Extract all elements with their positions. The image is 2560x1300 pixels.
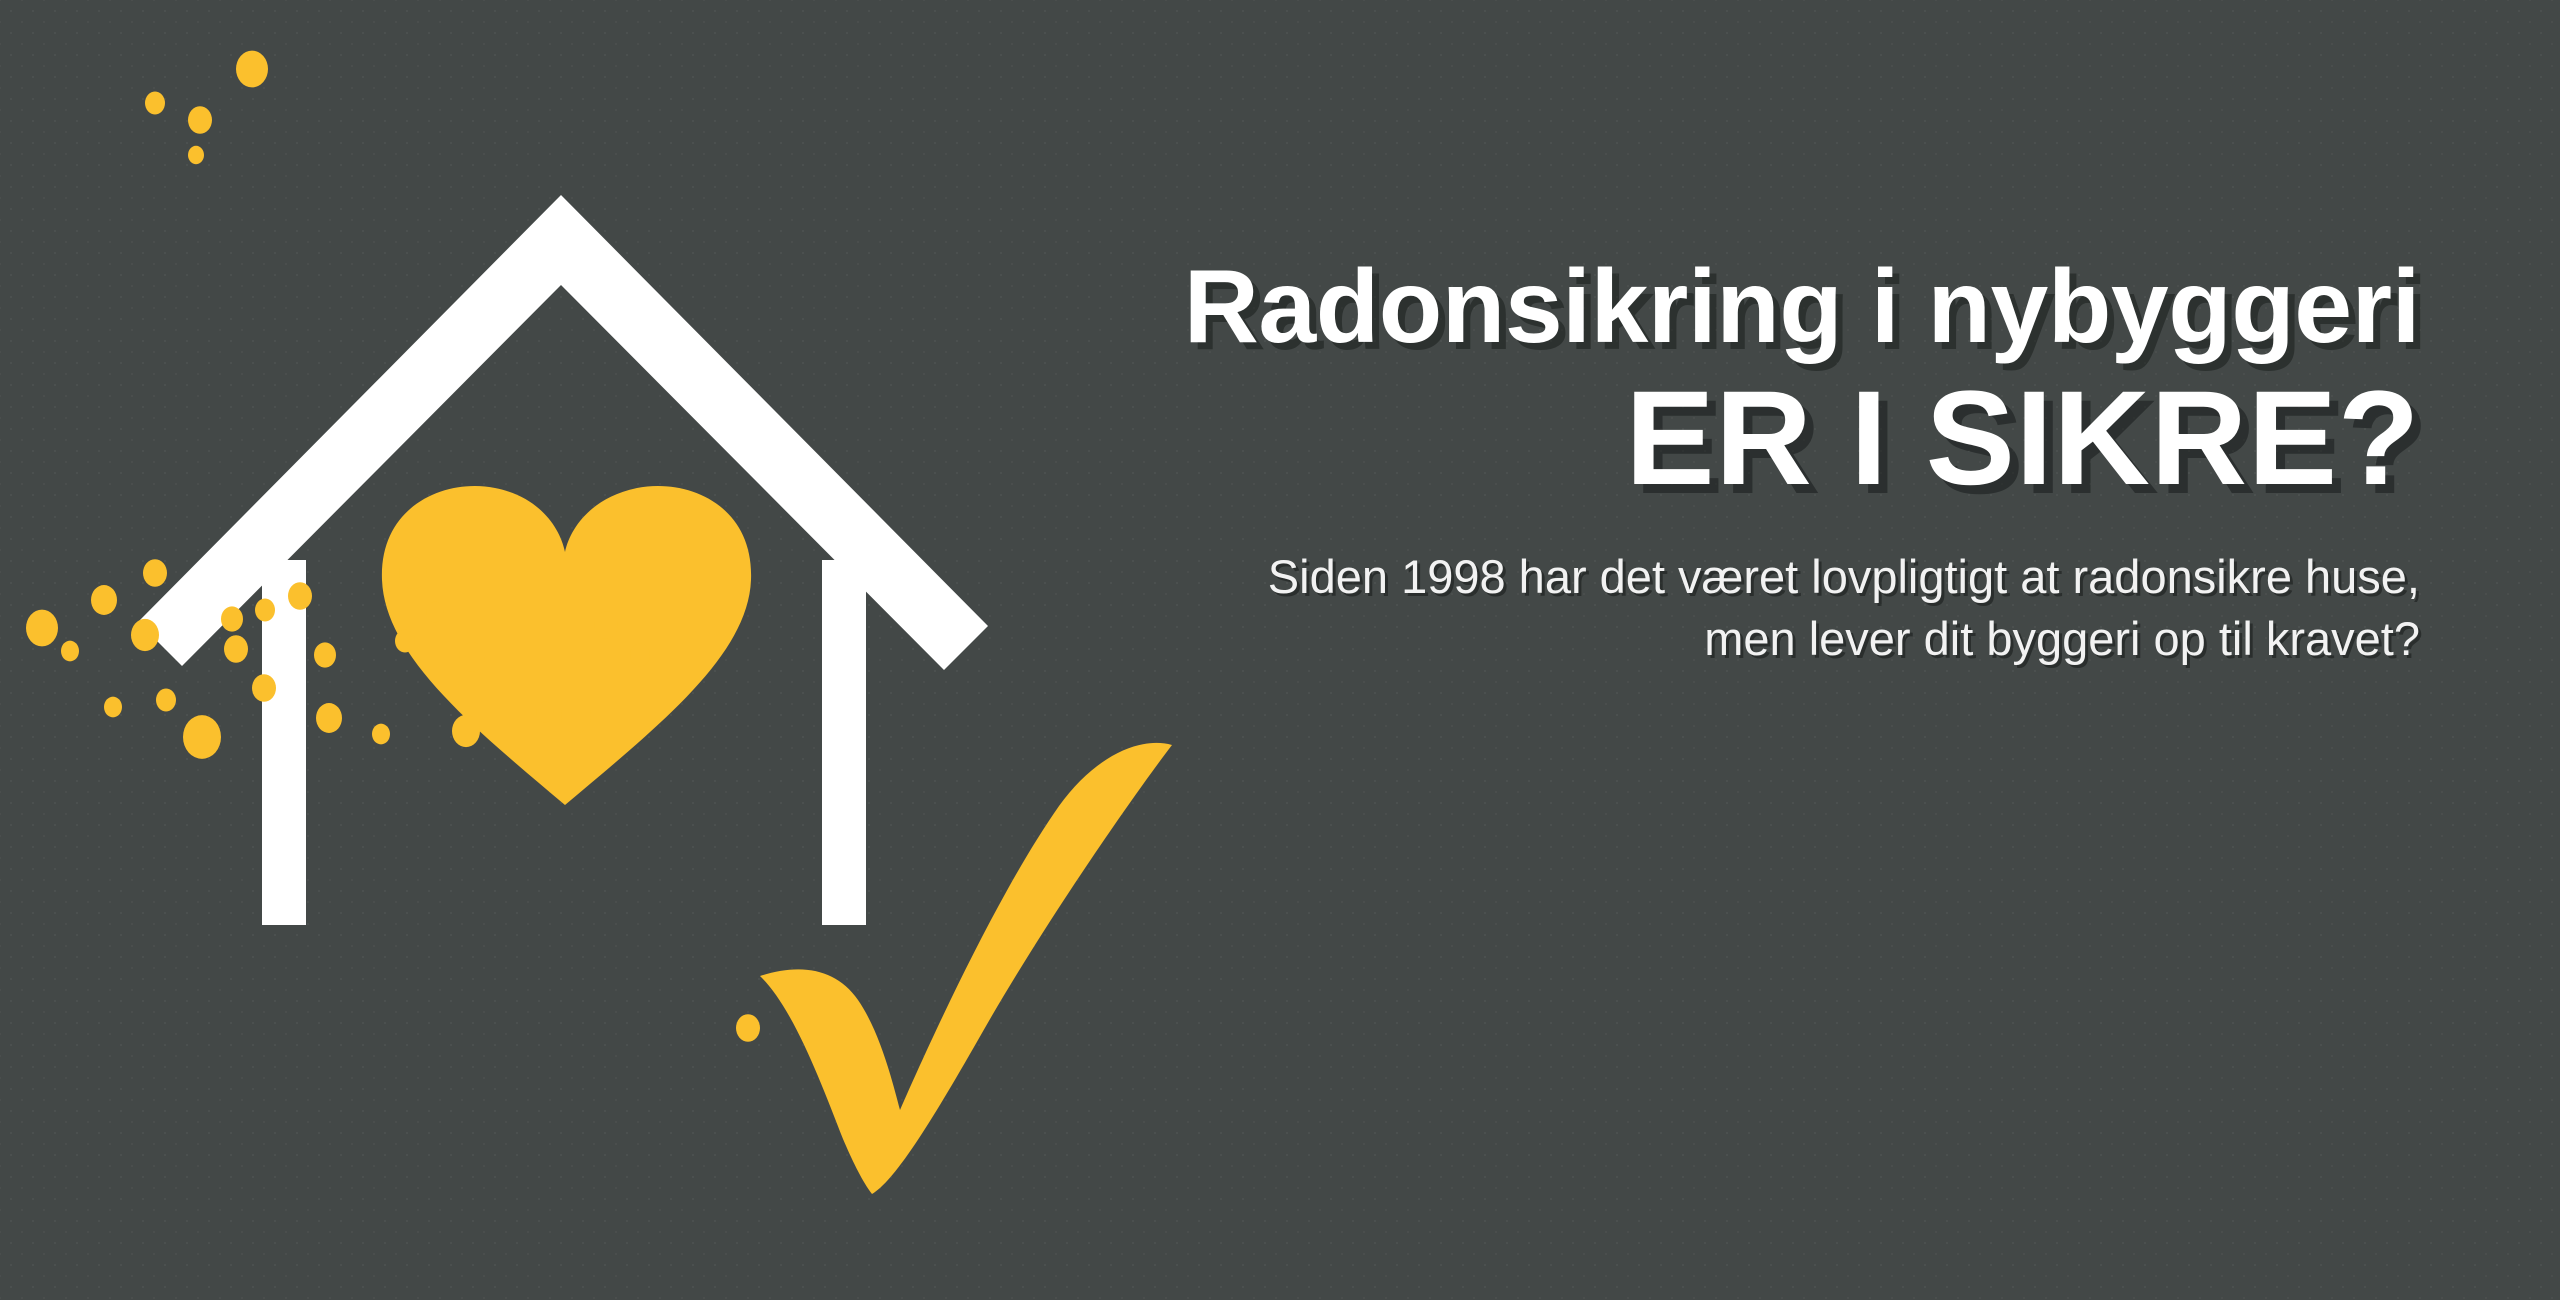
scatter-dot <box>255 599 275 622</box>
scatter-dot <box>252 674 276 702</box>
scatter-dot <box>145 92 165 115</box>
scatter-dot <box>156 689 176 712</box>
scatter-dot <box>236 51 268 88</box>
scatter-dot <box>143 559 167 587</box>
scatter-dot <box>316 703 342 733</box>
scatter-dot <box>736 1014 760 1042</box>
scatter-dot <box>839 1092 857 1113</box>
subtitle-line-2: men lever dit byggeri op til kravet? <box>960 608 2420 670</box>
scatter-dot <box>221 606 243 631</box>
heart-icon <box>382 486 751 805</box>
scatter-dot <box>426 602 444 623</box>
scatter-dot <box>372 724 390 745</box>
headline-line-1: Radonsikring i nybyggeri <box>960 255 2420 359</box>
scatter-dot <box>91 585 117 615</box>
scatter-dot <box>183 715 221 759</box>
scatter-dot <box>399 557 427 589</box>
subtitle-line-1: Siden 1998 har det været lovpligtigt at … <box>960 546 2420 608</box>
headline-line-2: ER I SIKRE? <box>960 367 2420 512</box>
house-outline-icon <box>138 195 988 925</box>
scatter-dot <box>104 697 122 718</box>
scatter-dot <box>188 146 204 164</box>
banner-root: Radonsikring i nybyggeri ER I SIKRE? Sid… <box>0 0 2560 1300</box>
scatter-dot <box>630 644 650 667</box>
scatter-dot <box>314 642 336 667</box>
scatter-dot <box>459 642 485 672</box>
scatter-dot <box>452 715 480 747</box>
scatter-dot <box>188 106 212 134</box>
scatter-dot <box>561 699 591 734</box>
scatter-dot <box>536 702 554 723</box>
scatter-dot <box>61 641 79 662</box>
subtitle-block: Siden 1998 har det været lovpligtigt at … <box>960 546 2420 670</box>
dot-scatter <box>26 51 857 1113</box>
scatter-dot <box>288 582 312 610</box>
checkmark-icon <box>760 743 1172 1194</box>
scatter-dot <box>594 611 618 639</box>
headline-block: Radonsikring i nybyggeri ER I SIKRE? Sid… <box>960 255 2420 670</box>
scatter-dot <box>131 619 159 651</box>
scatter-dot <box>395 630 415 653</box>
scatter-dot <box>26 610 58 647</box>
scatter-dot <box>224 635 248 663</box>
